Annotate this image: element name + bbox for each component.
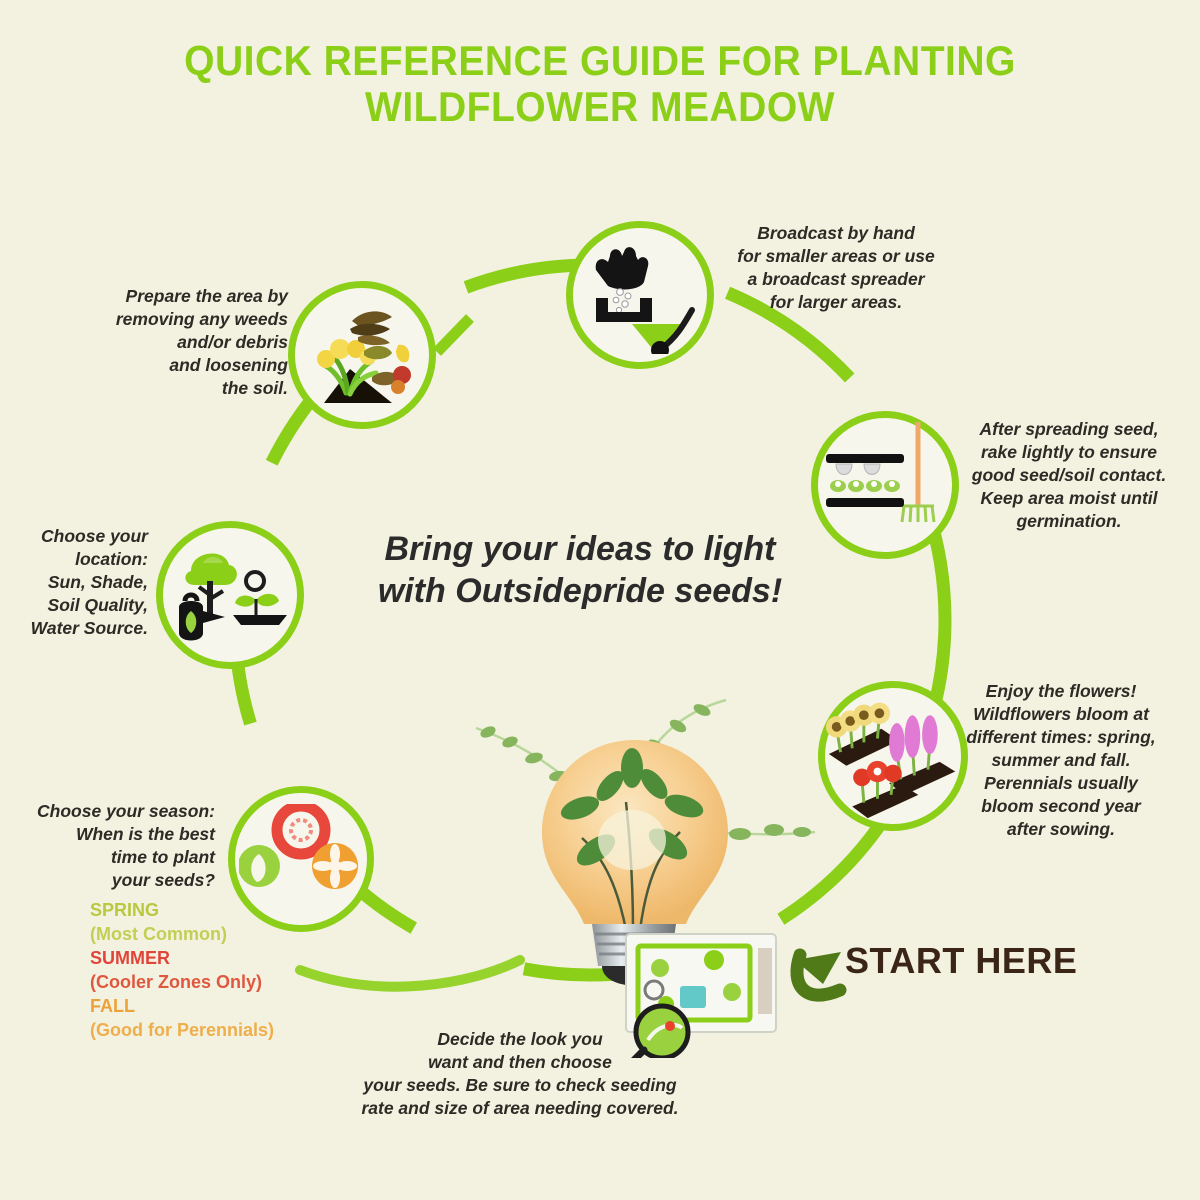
caption-line: Soil Quality, bbox=[8, 594, 148, 617]
caption-line: bloom second year bbox=[936, 795, 1186, 818]
node-choose-season[interactable] bbox=[228, 786, 374, 932]
flower-beds-icon bbox=[825, 686, 961, 826]
tagline: Bring your ideas to light with Outsidepr… bbox=[350, 528, 810, 612]
tree-wateringcan-sprout-icon bbox=[169, 537, 291, 653]
caption-line: Perennials usually bbox=[936, 772, 1186, 795]
node-enjoy-flowers[interactable] bbox=[818, 681, 968, 831]
caption-line: Water Source. bbox=[8, 617, 148, 640]
caption-line: after sowing. bbox=[936, 818, 1186, 841]
caption-line: good seed/soil contact. bbox=[944, 464, 1194, 487]
connector-prepare-broadcast bbox=[437, 318, 470, 352]
caption-decide-look: Decide the look you want and then choose… bbox=[310, 1028, 730, 1120]
caption-line: removing any weeds bbox=[88, 308, 288, 331]
caption-line: the soil. bbox=[88, 377, 288, 400]
badge-spring bbox=[239, 845, 280, 887]
caption-line: After spreading seed, bbox=[944, 418, 1194, 441]
caption-line: Choose your bbox=[8, 525, 148, 548]
weeds-debris-icon bbox=[306, 299, 418, 411]
caption-line: Broadcast by hand bbox=[716, 222, 956, 245]
caption-line: germination. bbox=[944, 510, 1194, 533]
caption-line: Decide the look you bbox=[310, 1028, 730, 1051]
caption-line: for larger areas. bbox=[716, 291, 956, 314]
caption-line: Prepare the area by bbox=[88, 285, 288, 308]
caption-line: and/or debris bbox=[88, 331, 288, 354]
season-badges-icon bbox=[239, 804, 363, 914]
start-here-label: START HERE bbox=[845, 940, 1077, 982]
caption-rake-and-water: After spreading seed, rake lightly to en… bbox=[944, 418, 1194, 533]
caption-line: Choose your season: bbox=[25, 800, 215, 823]
legend-summer-name: SUMMER bbox=[90, 946, 305, 970]
rake-seedbed-icon bbox=[822, 422, 948, 548]
caption-choose-location: Choose your location: Sun, Shade, Soil Q… bbox=[8, 525, 148, 640]
caption-line: your seeds. Be sure to check seeding bbox=[310, 1074, 730, 1097]
caption-choose-season: Choose your season: When is the best tim… bbox=[25, 800, 215, 892]
legend-summer-note: (Cooler Zones Only) bbox=[90, 970, 305, 994]
caption-line: When is the best bbox=[25, 823, 215, 846]
caption-line: rate and size of area needing covered. bbox=[310, 1097, 730, 1120]
caption-line: summer and fall. bbox=[936, 749, 1186, 772]
caption-prepare-area: Prepare the area by removing any weeds a… bbox=[88, 285, 288, 400]
caption-enjoy-flowers: Enjoy the flowers! Wildflowers bloom at … bbox=[936, 680, 1186, 841]
caption-broadcast-seed: Broadcast by hand for smaller areas or u… bbox=[716, 222, 956, 314]
legend-fall-name: FALL bbox=[90, 994, 305, 1018]
caption-line: Keep area moist until bbox=[944, 487, 1194, 510]
node-prepare-area[interactable] bbox=[288, 281, 436, 429]
caption-line: time to plant bbox=[25, 846, 215, 869]
caption-line: want and then choose bbox=[310, 1051, 730, 1074]
badge-summer bbox=[277, 806, 325, 854]
node-rake-and-water[interactable] bbox=[811, 411, 959, 559]
node-broadcast-seed[interactable] bbox=[566, 221, 714, 369]
caption-line: for smaller areas or use bbox=[716, 245, 956, 268]
hand-broadcast-spreader-icon bbox=[580, 236, 700, 354]
caption-line: rake lightly to ensure bbox=[944, 441, 1194, 464]
tagline-line-1: Bring your ideas to light bbox=[350, 528, 810, 570]
infographic-canvas: QUICK REFERENCE GUIDE FOR PLANTING WILDF… bbox=[0, 0, 1200, 1200]
caption-line: different times: spring, bbox=[936, 726, 1186, 749]
caption-line: your seeds? bbox=[25, 869, 215, 892]
badge-fall bbox=[312, 843, 358, 889]
caption-line: location: bbox=[8, 548, 148, 571]
caption-line: a broadcast spreader bbox=[716, 268, 956, 291]
caption-line: Sun, Shade, bbox=[8, 571, 148, 594]
node-choose-location[interactable] bbox=[156, 521, 304, 669]
caption-line: Enjoy the flowers! bbox=[936, 680, 1186, 703]
caption-line: and loosening bbox=[88, 354, 288, 377]
tagline-line-2: with Outsidepride seeds! bbox=[350, 570, 810, 612]
legend-fall-note: (Good for Perennials) bbox=[90, 1018, 305, 1042]
caption-line: Wildflowers bloom at bbox=[936, 703, 1186, 726]
